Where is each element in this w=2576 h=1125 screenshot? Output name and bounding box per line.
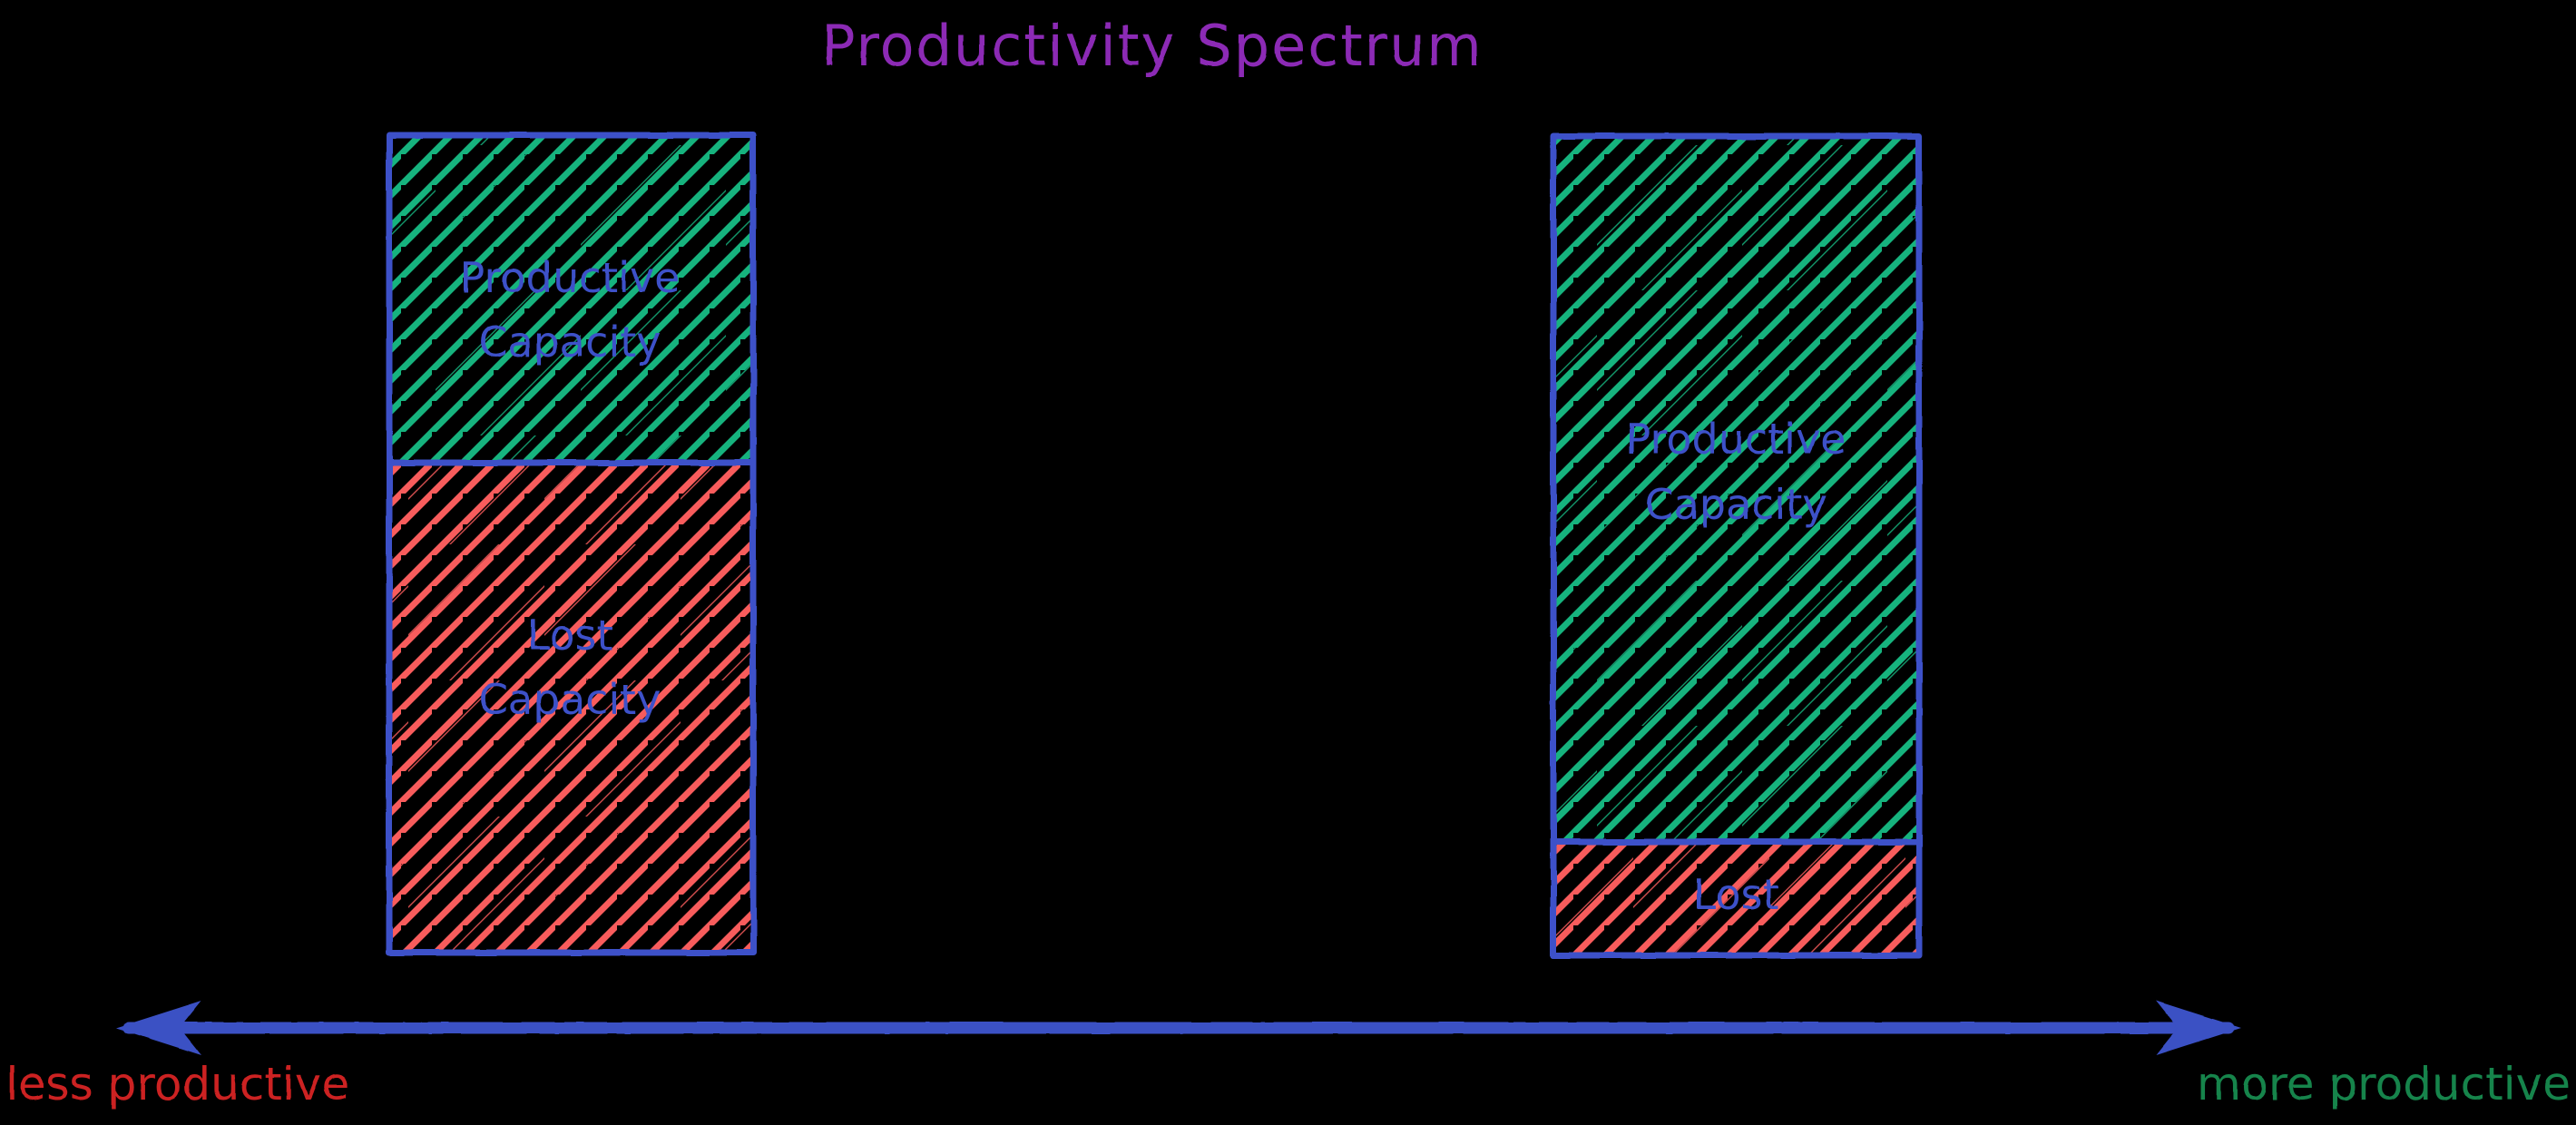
page-title: Productivity Spectrum bbox=[821, 13, 1484, 79]
productivity-spectrum-figure: Productivity Spectrum Pro bbox=[0, 0, 2576, 1125]
bar-left-productive-label-line2: Capacity bbox=[478, 318, 661, 367]
bar-left-productive-label-line1: Productive bbox=[460, 253, 681, 302]
bar-right-lost-label-line1: Lost bbox=[1693, 870, 1779, 919]
bar-right-lost-label: Lost bbox=[1693, 870, 1779, 919]
axis-left-label: less productive bbox=[5, 1058, 349, 1110]
bar-left-lost-label-line1: Lost bbox=[527, 611, 613, 660]
axis-left-label-text: less productive bbox=[5, 1058, 349, 1110]
less-productive-bar[interactable]: Productive Capacity Lost Capacity bbox=[389, 135, 753, 953]
axis-right-label-text: more productive bbox=[2197, 1058, 2571, 1110]
more-productive-bar[interactable]: Productive Capacity Lost bbox=[1553, 136, 1919, 955]
bar-right-productive-label-line1: Productive bbox=[1626, 415, 1846, 464]
page-title-text: Productivity Spectrum bbox=[821, 13, 1484, 79]
bar-left-lost-label-line2: Capacity bbox=[478, 675, 661, 724]
bar-right-productive-label-line2: Capacity bbox=[1644, 480, 1827, 529]
axis-right-label: more productive bbox=[2197, 1058, 2571, 1110]
chart-canvas: Productivity Spectrum Pro bbox=[0, 0, 2576, 1125]
